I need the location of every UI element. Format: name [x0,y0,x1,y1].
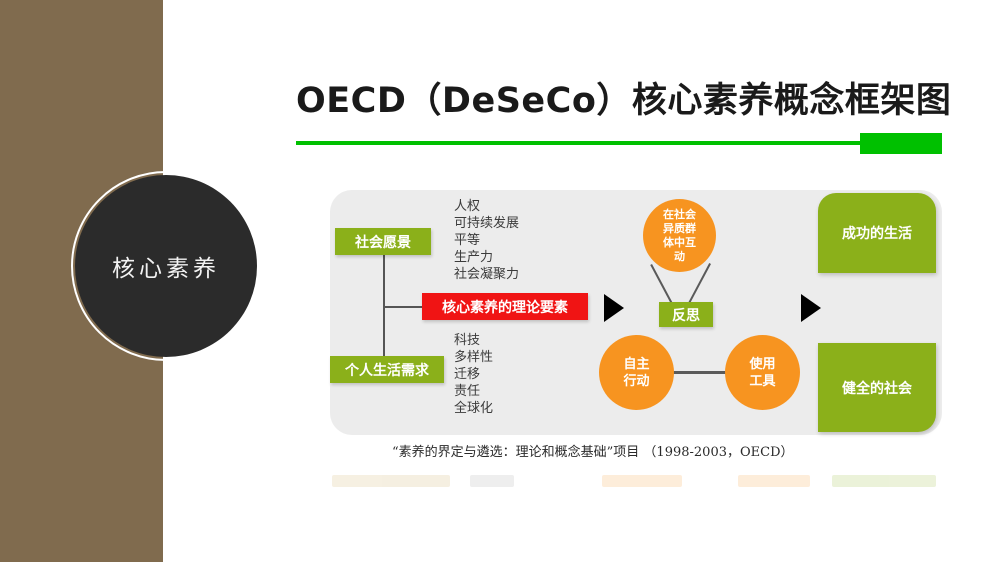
social-vision-item-list: 人权 可持续发展 平等 生产力 社会凝聚力 [454,198,519,283]
badge-label: 核心素养 [112,249,220,283]
competency-circle-use-tools: 使用 工具 [725,335,800,410]
personal-needs-item-list: 科技 多样性 迁移 责任 全球化 [454,332,493,417]
label-reflection: 反思 [659,302,713,327]
label-social-vision: 社会愿景 [335,228,431,255]
badge-body: 核心素养 [75,175,257,357]
competency-circle-act-autonomously: 自主 行动 [599,335,674,410]
title-underline-rule [296,141,942,145]
connector-line-vertical-bottom [383,307,385,357]
page-title: OECD（DeSeCo）核心素养概念框架图 [296,72,942,123]
arrow-right-icon-right [801,294,821,322]
label-personal-needs: 个人生活需求 [330,356,444,383]
label-core-competency-theory: 核心素养的理论要素 [422,293,588,320]
title-accent-block [860,133,942,154]
residual-segment [602,475,682,487]
triangle-edge-bottom [671,371,727,374]
arrow-right-icon-left [604,294,624,322]
diagram-inner: 社会愿景 个人生活需求 核心素养的理论要素 人权 可持续发展 平等 生产力 社会… [330,190,942,435]
faded-residual-graphic [330,470,942,492]
outcome-successful-life: 成功的生活 [818,193,936,273]
framework-diagram-panel: 社会愿景 个人生活需求 核心素养的理论要素 人权 可持续发展 平等 生产力 社会… [330,190,942,435]
connector-line-horizontal [383,306,423,308]
competency-circle-interact-heterogeneous-groups: 在社会 异质群 体中互 动 [643,199,716,272]
source-caption: “素养的界定与遴选：理论和概念基础”项目 （1998-2003，OECD） [392,441,794,460]
residual-segment [832,475,936,487]
core-competency-badge: 核心素养 [71,171,261,361]
slide-canvas: 核心素养 OECD（DeSeCo）核心素养概念框架图 社会愿景 个人生活需求 核… [0,0,1000,562]
residual-segment [738,475,810,487]
connector-line-vertical-top [383,255,385,307]
residual-segment [470,475,514,487]
residual-segment [332,475,450,487]
outcome-healthy-society: 健全的社会 [818,343,936,432]
